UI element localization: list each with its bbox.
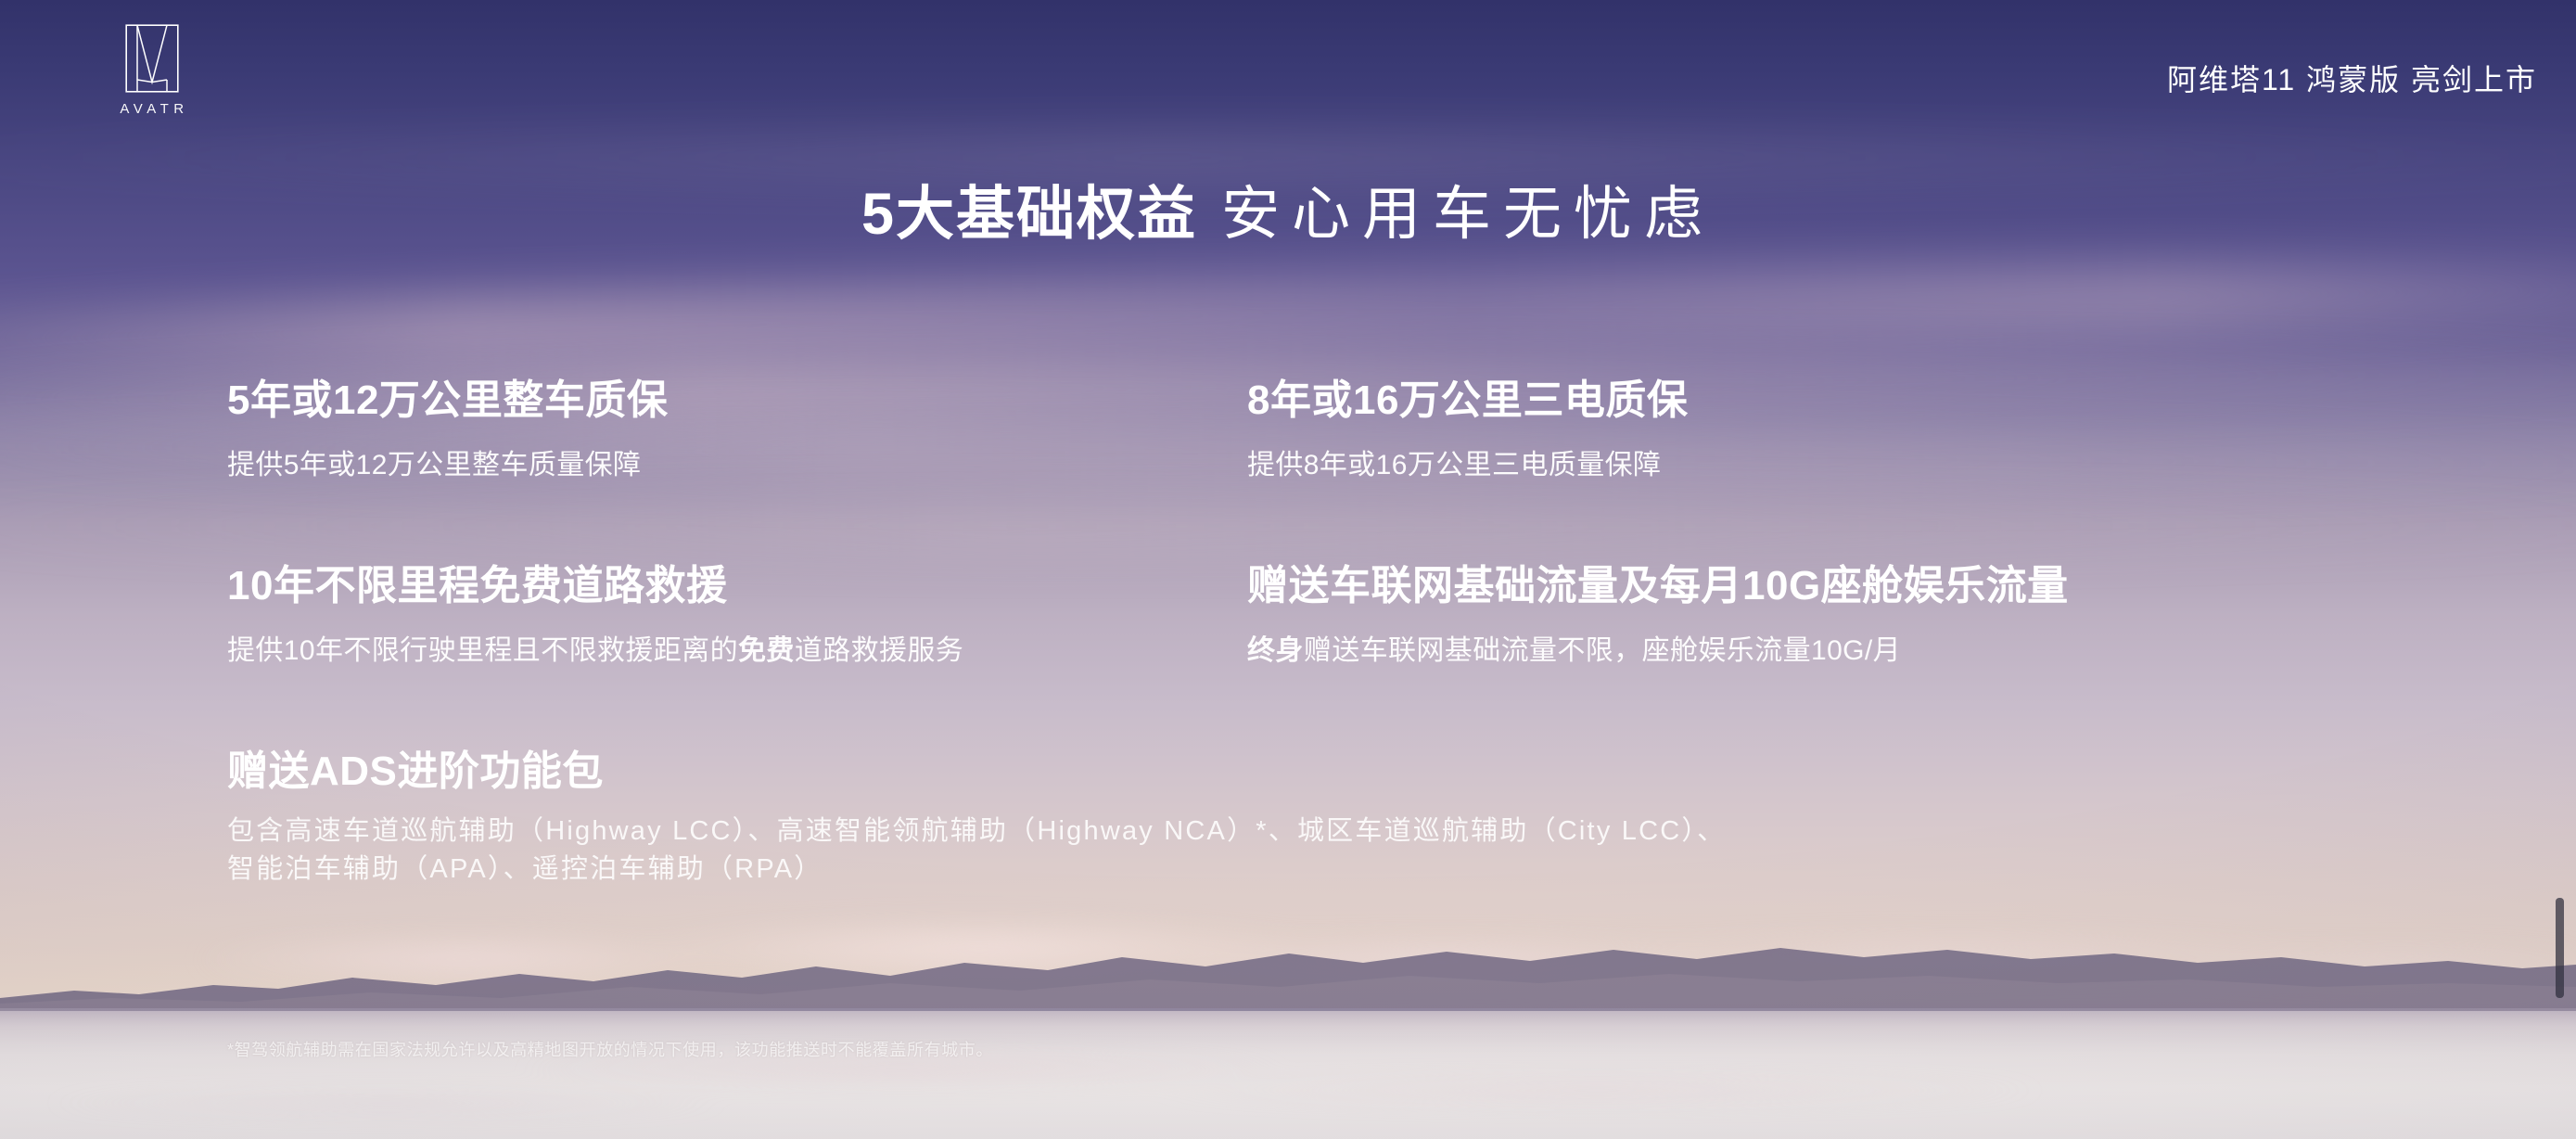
benefits-grid: 5年或12万公里整车质保 提供5年或12万公里整车质量保障 8年或16万公里三电… bbox=[227, 380, 2388, 937]
benefit-description-line1: 包含高速车道巡航辅助（Highway LCC）、高速智能领航辅助（Highway… bbox=[227, 816, 1726, 846]
benefit-item-connectivity-data: 赠送车联网基础流量及每月10G座舱娱乐流量 终身赠送车联网基础流量不限，座舱娱乐… bbox=[1247, 566, 2069, 668]
benefit-item-roadside-assistance: 10年不限里程免费道路救援 提供10年不限行驶里程且不限救援距离的免费道路救援服… bbox=[227, 566, 963, 668]
campaign-tagline: 阿维塔11 鸿蒙版 亮剑上市 bbox=[2167, 57, 2537, 99]
benefit-title-text: 5年或12万公里整车质保 bbox=[227, 378, 668, 423]
page-title-part1: 5大基础权益 bbox=[861, 182, 1197, 247]
benefit-subtitle: 提供10年不限行驶里程且不限救援距离的免费道路救援服务 bbox=[227, 627, 963, 668]
slide-content: AVATR 阿维塔11 鸿蒙版 亮剑上市 5大基础权益安心用车无忧虑 5年或12… bbox=[0, 0, 2576, 1139]
benefit-subtitle-suffix: 赠送车联网基础流量不限，座舱娱乐流量10G/月 bbox=[1304, 635, 1901, 666]
benefit-subtitle-prefix: 提供10年不限行驶里程且不限救援距离的 bbox=[227, 635, 738, 666]
benefit-subtitle: 提供5年或12万公里整车质量保障 bbox=[227, 442, 668, 482]
benefit-subtitle-emphasis: 免费 bbox=[738, 635, 795, 666]
benefit-subtitle-emphasis: 终身 bbox=[1247, 635, 1304, 666]
benefit-item-warranty-vehicle: 5年或12万公里整车质保 提供5年或12万公里整车质量保障 bbox=[227, 380, 668, 482]
benefit-description: 包含高速车道巡航辅助（Highway LCC）、高速智能领航辅助（Highway… bbox=[227, 813, 1726, 889]
benefit-item-warranty-battery: 8年或16万公里三电质保 提供8年或16万公里三电质量保障 bbox=[1247, 380, 1688, 482]
benefit-subtitle-text: 提供8年或16万公里三电质量保障 bbox=[1247, 450, 1661, 480]
page-title: 5大基础权益安心用车无忧虑 bbox=[0, 167, 2576, 251]
benefits-row: 赠送ADS进阶功能包 包含高速车道巡航辅助（Highway LCC）、高速智能领… bbox=[227, 751, 2388, 937]
benefit-item-ads-package: 赠送ADS进阶功能包 包含高速车道巡航辅助（Highway LCC）、高速智能领… bbox=[227, 751, 1726, 889]
benefits-row: 10年不限里程免费道路救援 提供10年不限行驶里程且不限救援距离的免费道路救援服… bbox=[227, 566, 2388, 751]
benefit-title-text: 8年或16万公里三电质保 bbox=[1247, 378, 1688, 423]
page-title-part2: 安心用车无忧虑 bbox=[1221, 182, 1715, 247]
scrollbar-thumb[interactable] bbox=[2556, 898, 2564, 998]
benefit-title: 赠送ADS进阶功能包 bbox=[227, 751, 604, 792]
footnote-disclaimer: *智驾领航辅助需在国家法规允许以及高精地图开放的情况下使用，该功能推送时不能覆盖… bbox=[227, 1037, 993, 1061]
benefits-row: 5年或12万公里整车质保 提供5年或12万公里整车质量保障 8年或16万公里三电… bbox=[227, 380, 2388, 566]
benefit-title: 5年或12万公里整车质保 bbox=[227, 380, 668, 421]
benefit-title-text: 10年不限里程免费道路救援 bbox=[227, 563, 727, 608]
presentation-slide: AVATR 阿维塔11 鸿蒙版 亮剑上市 5大基础权益安心用车无忧虑 5年或12… bbox=[0, 0, 2576, 1139]
benefit-subtitle-suffix: 道路救援服务 bbox=[795, 635, 963, 666]
benefit-description-line2: 智能泊车辅助（APA）、遥控泊车辅助（RPA） bbox=[227, 851, 1726, 889]
benefit-subtitle: 提供8年或16万公里三电质量保障 bbox=[1247, 442, 1688, 482]
avatr-logo-icon bbox=[125, 24, 179, 93]
benefit-title: 10年不限里程免费道路救援 bbox=[227, 566, 727, 607]
scrollbar-track[interactable] bbox=[2557, 0, 2576, 1139]
benefit-title-text: 赠送车联网基础流量及每月10G座舱娱乐流量 bbox=[1247, 563, 2069, 608]
benefit-subtitle-text: 提供5年或12万公里整车质量保障 bbox=[227, 450, 641, 480]
benefit-subtitle: 终身赠送车联网基础流量不限，座舱娱乐流量10G/月 bbox=[1247, 627, 2069, 668]
avatr-logo: AVATR bbox=[93, 24, 211, 126]
benefit-title: 8年或16万公里三电质保 bbox=[1247, 380, 1688, 421]
avatr-wordmark: AVATR bbox=[115, 101, 188, 117]
benefit-title: 赠送车联网基础流量及每月10G座舱娱乐流量 bbox=[1247, 566, 2069, 607]
benefit-title-text: 赠送ADS进阶功能包 bbox=[227, 749, 604, 794]
